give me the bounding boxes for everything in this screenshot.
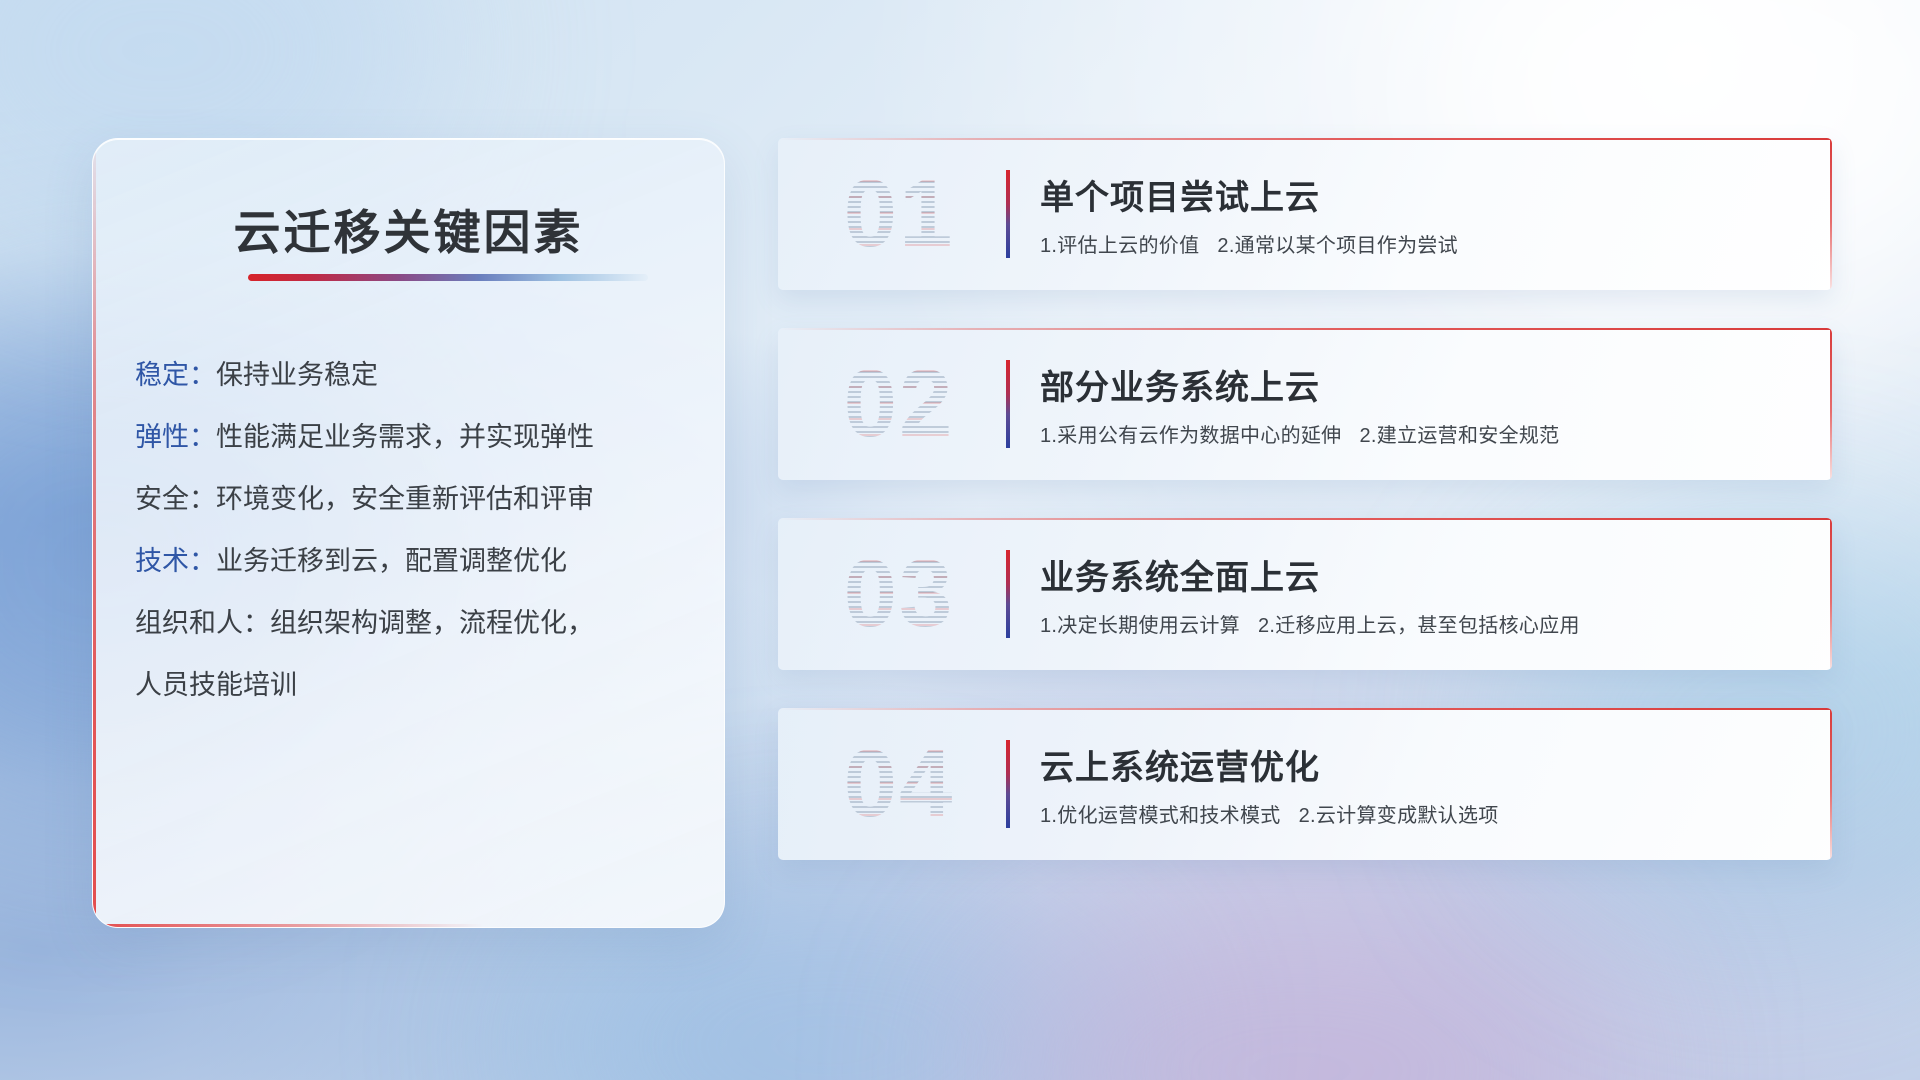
factor-value: 保持业务稳定 — [216, 360, 378, 390]
step-number: 01 — [804, 166, 994, 262]
factor-key: 组织和人： — [135, 608, 270, 638]
step-title: 部分业务系统上云 — [1040, 360, 1804, 409]
step-divider-bar — [1006, 550, 1010, 638]
step-divider-bar — [1006, 360, 1010, 448]
factor-value: 人员技能培训 — [135, 670, 297, 700]
factor-value: 组织架构调整，流程优化， — [270, 608, 594, 638]
factor-value: 环境变化，安全重新评估和评审 — [216, 484, 594, 514]
step-point-2: 2.云计算变成默认选项 — [1299, 805, 1499, 827]
step-point-2: 2.建立运营和安全规范 — [1359, 425, 1559, 447]
factor-row: 弹性：性能满足业务需求，并实现弹性 — [135, 406, 698, 468]
step-card[interactable]: 02 02 部分业务系统上云 1.采用公有云作为数据中心的延伸2.建立运营和安全… — [778, 328, 1832, 480]
key-factors-panel: 云迁移关键因素 稳定：保持业务稳定 弹性：性能满足业务需求，并实现弹性 安全：环… — [92, 138, 725, 928]
step-card[interactable]: 04 04 云上系统运营优化 1.优化运营模式和技术模式2.云计算变成默认选项 — [778, 708, 1832, 860]
factor-row: 人员技能培训 — [135, 654, 698, 716]
step-points: 1.评估上云的价值2.通常以某个项目作为尝试 — [1040, 229, 1804, 258]
step-point-2: 2.通常以某个项目作为尝试 — [1217, 235, 1458, 257]
step-number: 03 — [804, 546, 994, 642]
step-card[interactable]: 01 01 单个项目尝试上云 1.评估上云的价值2.通常以某个项目作为尝试 — [778, 138, 1832, 290]
step-divider-bar — [1006, 170, 1010, 258]
step-body: 云上系统运营优化 1.优化运营模式和技术模式2.云计算变成默认选项 — [1040, 740, 1804, 828]
step-points: 1.优化运营模式和技术模式2.云计算变成默认选项 — [1040, 799, 1804, 828]
factor-key: 弹性： — [135, 422, 216, 452]
step-point-1: 1.决定长期使用云计算 — [1040, 615, 1240, 637]
step-points: 1.决定长期使用云计算2.迁移应用上云，甚至包括核心应用 — [1040, 609, 1804, 638]
step-divider-bar — [1006, 740, 1010, 828]
factor-list: 稳定：保持业务稳定 弹性：性能满足业务需求，并实现弹性 安全：环境变化，安全重新… — [135, 344, 698, 716]
title-underline-rule — [248, 274, 648, 281]
factor-key: 安全： — [135, 484, 216, 514]
step-body: 部分业务系统上云 1.采用公有云作为数据中心的延伸2.建立运营和安全规范 — [1040, 360, 1804, 448]
step-point-1: 1.优化运营模式和技术模式 — [1040, 805, 1281, 827]
background-blob-bottom-center — [980, 900, 1620, 1080]
step-title: 云上系统运营优化 — [1040, 740, 1804, 789]
step-point-1: 1.采用公有云作为数据中心的延伸 — [1040, 425, 1341, 447]
step-point-1: 1.评估上云的价值 — [1040, 235, 1199, 257]
step-card-list: 01 01 单个项目尝试上云 1.评估上云的价值2.通常以某个项目作为尝试 02… — [778, 138, 1832, 898]
step-card[interactable]: 03 03 业务系统全面上云 1.决定长期使用云计算2.迁移应用上云，甚至包括核… — [778, 518, 1832, 670]
factor-row: 组织和人：组织架构调整，流程优化， — [135, 592, 698, 654]
factor-value: 性能满足业务需求，并实现弹性 — [216, 422, 594, 452]
factor-key: 技术： — [135, 546, 216, 576]
factor-key: 稳定： — [135, 360, 216, 390]
step-point-2: 2.迁移应用上云，甚至包括核心应用 — [1258, 615, 1580, 637]
step-number: 04 — [804, 736, 994, 832]
factor-row: 安全：环境变化，安全重新评估和评审 — [135, 468, 698, 530]
factor-value: 业务迁移到云，配置调整优化 — [216, 546, 567, 576]
step-points: 1.采用公有云作为数据中心的延伸2.建立运营和安全规范 — [1040, 419, 1804, 448]
slide-canvas: 云迁移关键因素 稳定：保持业务稳定 弹性：性能满足业务需求，并实现弹性 安全：环… — [0, 0, 1920, 1080]
step-number: 02 — [804, 356, 994, 452]
factor-row: 技术：业务迁移到云，配置调整优化 — [135, 530, 698, 592]
panel-title: 云迁移关键因素 — [93, 194, 724, 263]
factor-row: 稳定：保持业务稳定 — [135, 344, 698, 406]
step-body: 单个项目尝试上云 1.评估上云的价值2.通常以某个项目作为尝试 — [1040, 170, 1804, 258]
step-title: 业务系统全面上云 — [1040, 550, 1804, 599]
step-title: 单个项目尝试上云 — [1040, 170, 1804, 219]
step-body: 业务系统全面上云 1.决定长期使用云计算2.迁移应用上云，甚至包括核心应用 — [1040, 550, 1804, 638]
